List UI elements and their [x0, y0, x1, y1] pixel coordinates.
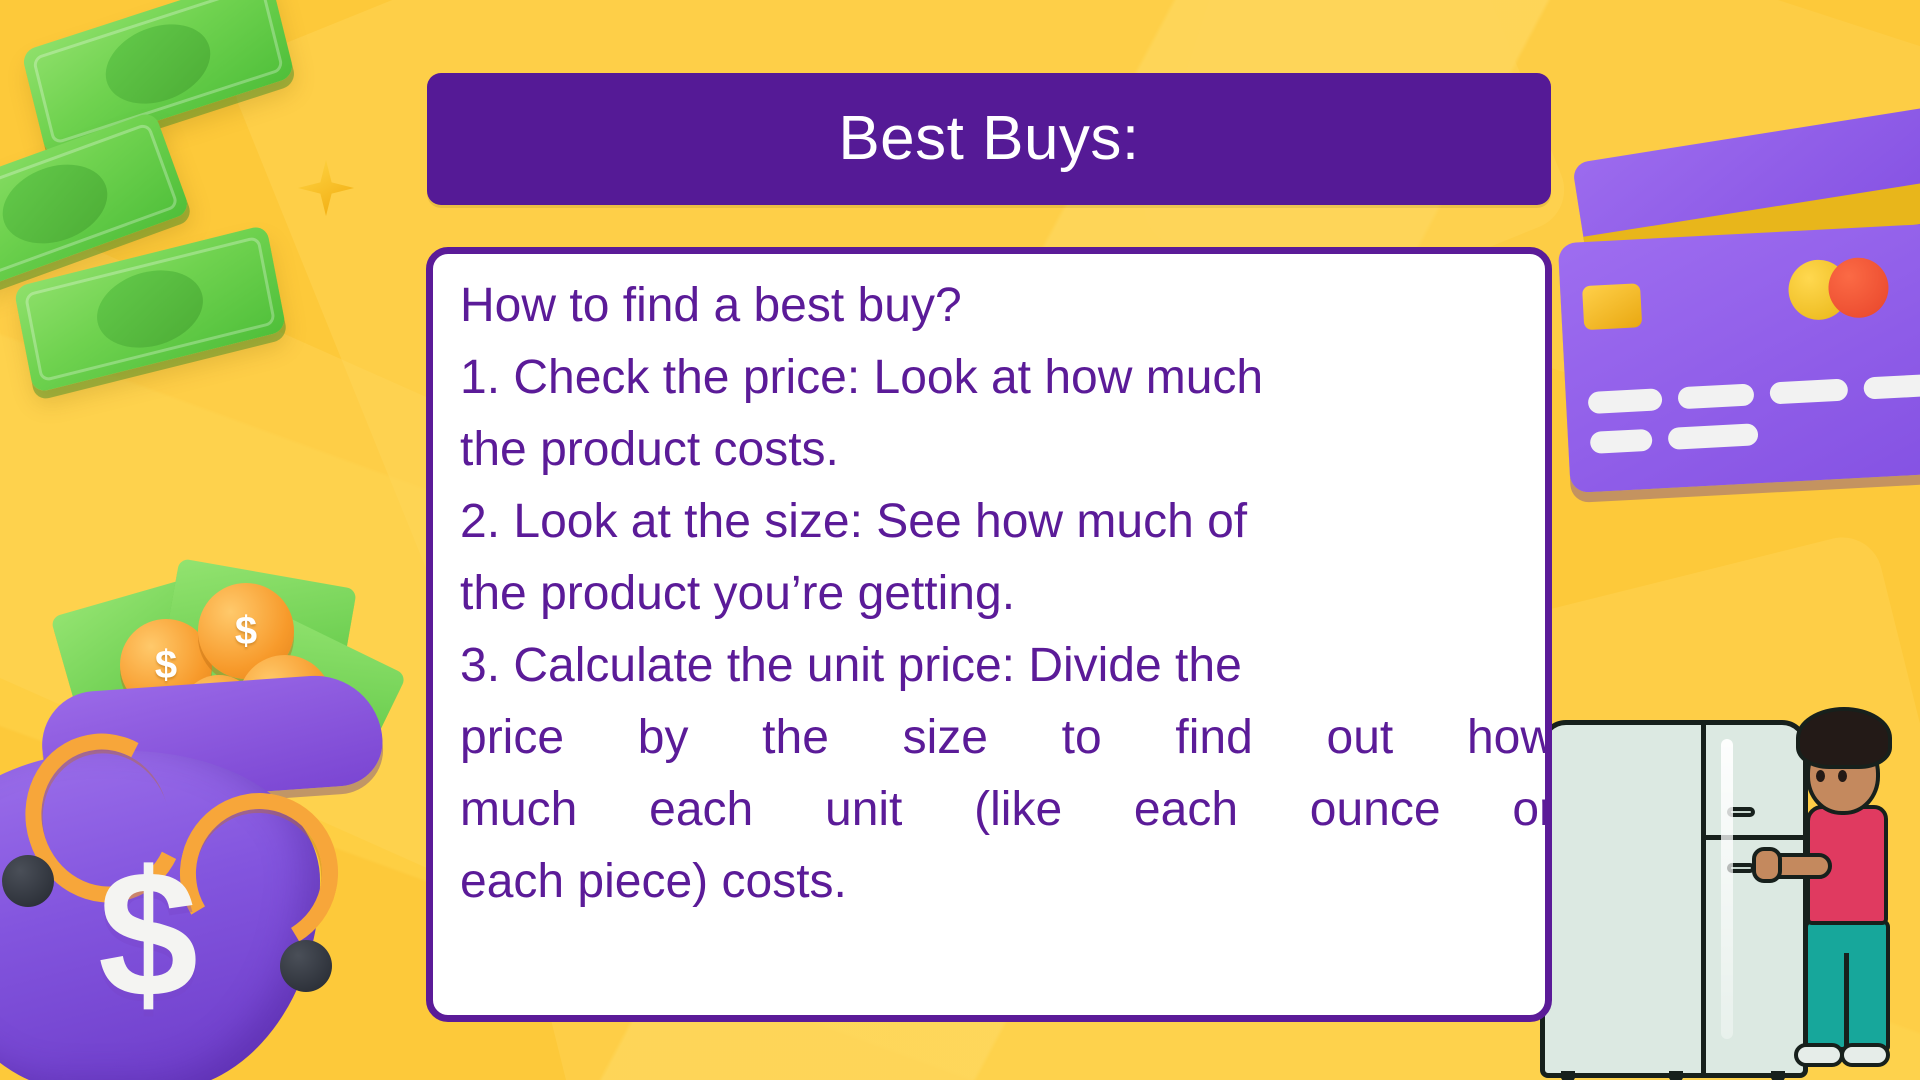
content-card: How to find a best buy? 1. Check the pri… — [426, 247, 1552, 1022]
slide-canvas: $ $ $ $ $ — [0, 0, 1920, 1080]
body-line: 2. Look at the size: See how much of — [460, 486, 1552, 558]
bag-rope-knob — [280, 940, 332, 992]
bag-rope-knob — [2, 855, 54, 907]
body-line: How to find a best buy? — [460, 270, 1552, 342]
fridge-door-divider — [1701, 835, 1813, 840]
card-number-block — [1588, 388, 1663, 414]
page-title: Best Buys: — [838, 108, 1139, 170]
fridge-door-split — [1701, 720, 1706, 1078]
card-number-block — [1677, 383, 1754, 409]
body-line: 3. Calculate the unit price: Divide the — [460, 630, 1552, 702]
body-line: each piece) costs. — [460, 846, 1552, 918]
fridge-foot — [1669, 1071, 1683, 1080]
credit-cards-illustration — [1570, 120, 1920, 490]
boy-eye — [1838, 770, 1847, 782]
body-line: 1. Check the price: Look at how much — [460, 342, 1552, 414]
fridge-highlight — [1721, 739, 1733, 1039]
fridge-foot — [1771, 1071, 1785, 1080]
card-chip-icon — [1582, 283, 1642, 330]
boy-hand — [1752, 847, 1782, 883]
bag-dollar-symbol: $ — [98, 845, 198, 1025]
card-number-block — [1590, 429, 1653, 454]
fridge-scene-illustration — [1518, 675, 1920, 1080]
body-line: the product you’re getting. — [460, 558, 1552, 630]
fridge-foot — [1561, 1071, 1575, 1080]
body-line: much each unit (like each ounce or — [460, 774, 1552, 846]
card-number-block — [1769, 378, 1848, 404]
boy-shoe — [1840, 1043, 1890, 1067]
card-number-block — [1863, 374, 1920, 400]
boy-eye — [1816, 770, 1825, 782]
coin-symbol: $ — [235, 611, 257, 651]
credit-card-front — [1558, 221, 1920, 493]
boy-hair — [1796, 707, 1892, 769]
card-number-block — [1668, 423, 1759, 450]
body-line: price by the size to find out how — [460, 702, 1552, 774]
refrigerator-icon — [1540, 720, 1808, 1078]
boy-shoe — [1794, 1043, 1844, 1067]
money-bag-illustration: $ $ $ $ $ — [0, 555, 420, 1080]
boy-leg-gap — [1844, 953, 1849, 1051]
body-line: the product costs. — [460, 414, 1552, 486]
content-card-text: How to find a best buy? 1. Check the pri… — [460, 270, 1552, 918]
title-banner: Best Buys: — [427, 73, 1551, 205]
coin-symbol: $ — [155, 645, 177, 685]
